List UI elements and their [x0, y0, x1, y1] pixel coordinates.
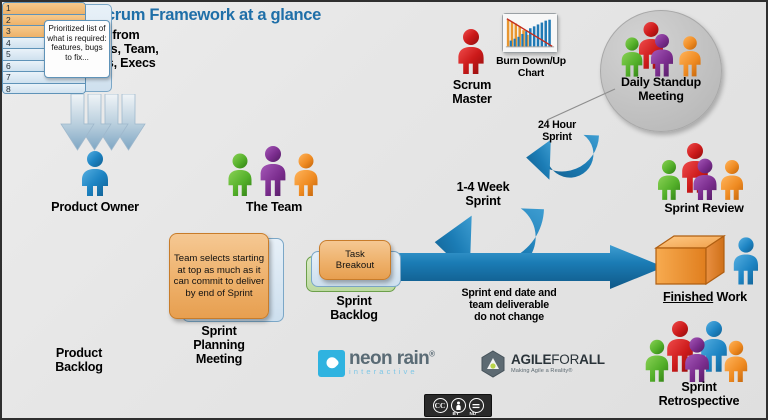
sprint-backlog-label: Sprint Backlog [302, 294, 406, 322]
finished-work-plain: Work [713, 290, 747, 304]
sprint-note-line-3: do not change [400, 312, 618, 324]
sprint-review-label: Sprint Review [642, 202, 766, 216]
sprint-backlog-label-line-2: Backlog [302, 308, 406, 322]
person-icon-finished-work [729, 237, 763, 285]
neon-word-2: rain [397, 348, 429, 369]
neon-rain-logo: neon rain® interactive [318, 348, 434, 378]
cc-icon: CC [433, 398, 448, 413]
daily-standup-line-2: Meeting [602, 90, 720, 104]
burn-chart-line-1: Burn Down/Up [489, 56, 573, 68]
scrum-framework-diagram: The Agile Scrum Framework at a glance In… [0, 0, 768, 420]
down-arrows-icon [50, 94, 158, 152]
person-icon-product-owner [72, 150, 118, 196]
burn-chart-label: Burn Down/Up Chart [489, 56, 573, 79]
sprint-planning-line-1: Sprint [164, 324, 274, 338]
people-group-icon-sprint-review [654, 142, 746, 200]
the-team-label: The Team [214, 200, 334, 214]
afa-word-3: ALL [579, 352, 605, 367]
people-group-icon-daily-standup [619, 22, 705, 77]
water-drop-icon [318, 350, 345, 377]
sprint-cycle-line-2: Sprint [432, 194, 534, 208]
burn-chart-line-2: Chart [489, 68, 573, 80]
hexagon-icon [480, 350, 506, 378]
sprint-planning-label: Sprint Planning Meeting [164, 324, 274, 366]
task-breakout-box[interactable]: Task Breakout [319, 240, 391, 280]
scrum-master-line-2: Master [432, 92, 512, 106]
task-breakout-line-2: Breakout [336, 260, 374, 272]
product-backlog-line-2: Backlog [24, 360, 134, 374]
sprint-cycle-line-1: 1-4 Week [432, 180, 534, 194]
sprint-note: Sprint end date and team deliverable do … [400, 288, 618, 324]
sprint-retrospective-line-1: Sprint [634, 380, 764, 394]
sprint-backlog-label-line-1: Sprint [302, 294, 406, 308]
daily-standup-label: Daily Standup Meeting [602, 76, 720, 104]
neon-rain-wordmark: neon rain® [349, 350, 434, 368]
product-backlog-callout: Prioritized list of what is required: fe… [44, 20, 110, 78]
sprint-planning-box[interactable]: Team selects starting at top as much as … [169, 233, 269, 319]
backlog-row[interactable]: 1 [3, 3, 85, 15]
afa-word-2: FOR [551, 352, 579, 367]
sprint-retrospective-label: Sprint Retrospective [634, 380, 764, 408]
scrum-master-line-1: Scrum [432, 78, 512, 92]
person-icon-scrum-master [450, 28, 492, 74]
neon-registered: ® [429, 350, 434, 359]
product-owner-label: Product Owner [22, 200, 168, 214]
product-backlog-stack[interactable]: 12345678 Prioritized list of what is req… [2, 2, 114, 94]
sprint-note-line-2: team deliverable [400, 300, 618, 312]
people-group-icon-the-team [224, 146, 322, 198]
agile-for-all-logo: AGILEFORALL Making Agile a Reality® [480, 350, 605, 378]
sprint-retrospective-line-2: Retrospective [634, 394, 764, 408]
sprint-planning-line-3: Meeting [164, 352, 274, 366]
cc-by-label: BY [453, 411, 459, 416]
sprint-flow-arrow [374, 245, 664, 293]
product-backlog-line-1: Product [24, 346, 134, 360]
cc-nd-label: ND [470, 411, 477, 416]
product-backlog-label: Product Backlog [24, 346, 134, 374]
bar-chart-icon [502, 13, 558, 53]
people-group-icon-sprint-retrospective [640, 320, 758, 382]
finished-work-label: Finished Work [642, 290, 768, 304]
box-3d-icon [654, 234, 726, 286]
finished-work-underlined: Finished [663, 290, 713, 304]
sprint-planning-line-2: Planning [164, 338, 274, 352]
agile-for-all-tagline: Making Agile a Reality® [511, 369, 605, 375]
backlog-row[interactable]: 8 [3, 84, 85, 95]
creative-commons-badge[interactable]: CC BY ND [424, 394, 492, 417]
neon-rain-tagline: interactive [349, 368, 434, 376]
afa-word-1: AGILE [511, 352, 551, 367]
task-breakout-line-1: Task [345, 249, 365, 261]
scrum-master-label: Scrum Master [432, 78, 512, 106]
sprint-cycle-label: 1-4 Week Sprint [432, 180, 534, 208]
daily-standup-line-1: Daily Standup [602, 76, 720, 90]
neon-word-1: neon [349, 348, 392, 369]
agile-for-all-wordmark: AGILEFORALL [511, 353, 605, 367]
